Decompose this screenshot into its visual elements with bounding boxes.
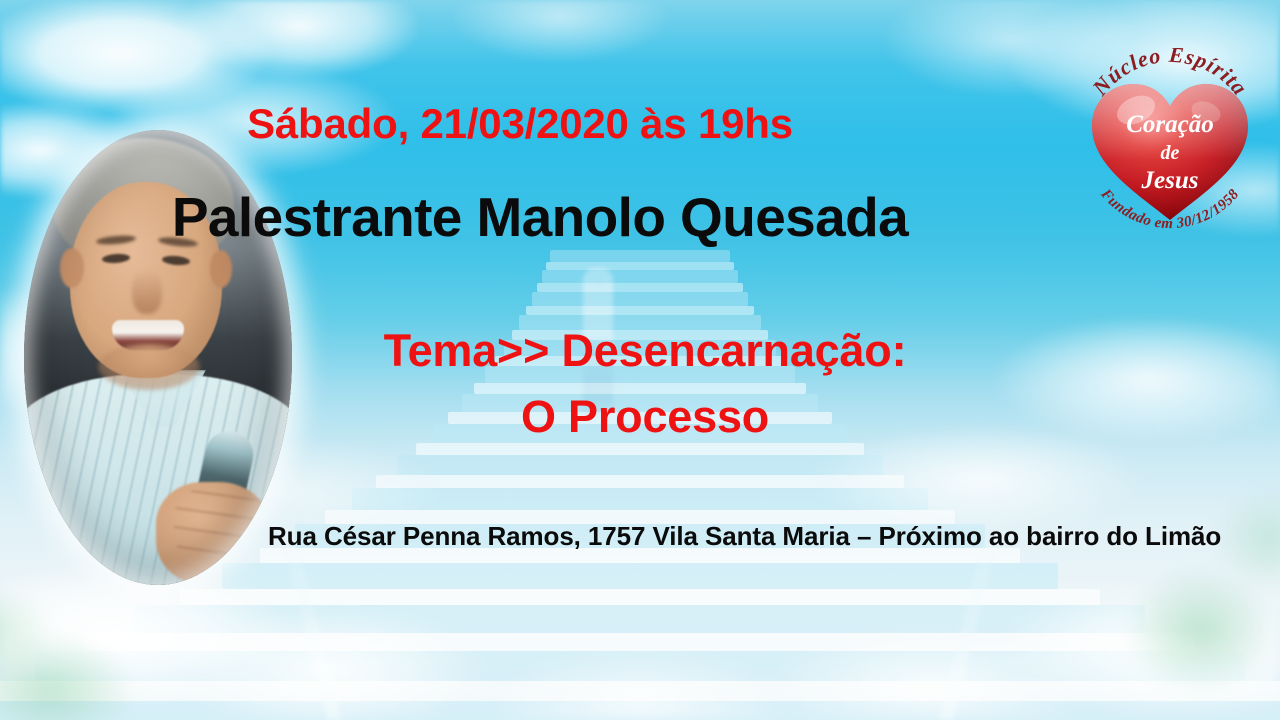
organization-logo: Coração de Jesus Núcleo Espírita Fundado… [1074, 48, 1266, 240]
event-theme-line-2: O Processo [250, 384, 1040, 450]
event-date-time: Sábado, 21/03/2020 às 19hs [0, 102, 1040, 147]
event-theme: Tema>> Desencarnação: O Processo [250, 318, 1040, 449]
logo-heart-line-3: Jesus [1141, 167, 1199, 194]
logo-heart-line-1: Coração [1126, 111, 1214, 138]
speaker-name-heading: Palestrante Manolo Quesada [0, 188, 1080, 246]
event-address: Rua César Penna Ramos, 1757 Vila Santa M… [268, 518, 1228, 555]
event-poster: Coração de Jesus Núcleo Espírita Fundado… [0, 0, 1280, 720]
logo-arc-top: Núcleo Espírita [1087, 48, 1253, 101]
event-theme-line-1: Tema>> Desencarnação: [250, 318, 1040, 384]
logo-heart-line-2: de [1161, 142, 1180, 164]
foliage-hint-right [970, 480, 1280, 710]
